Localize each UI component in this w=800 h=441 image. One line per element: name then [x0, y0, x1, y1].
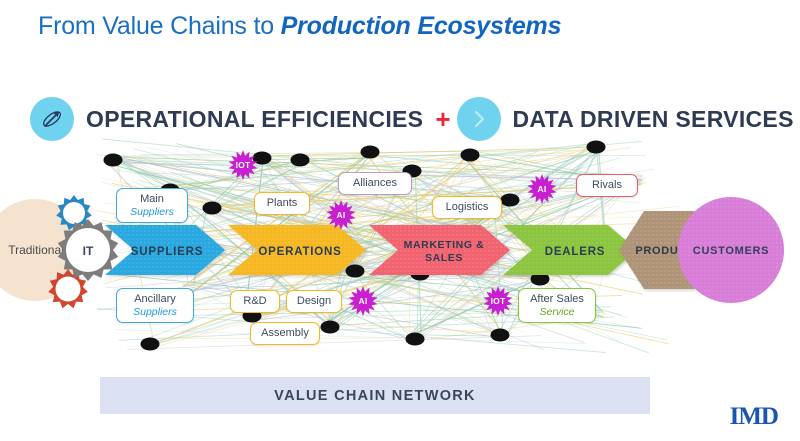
label-ancillary-sub: Suppliers	[126, 306, 184, 318]
tech-burst-label: IOT	[491, 296, 506, 306]
label-assembly-title: Assembly	[261, 327, 309, 339]
label-alliances-title: Alliances	[353, 177, 397, 189]
page-title-emphasis: Production Ecosystems	[281, 12, 562, 40]
tech-burst-label: AI	[337, 210, 346, 220]
label-plants[interactable]: Plants	[254, 192, 310, 215]
label-ancillary-title: Ancillary	[134, 293, 176, 305]
banner-label: VALUE CHAIN NETWORK	[274, 388, 476, 404]
subtitle-plus: +	[435, 104, 450, 135]
label-rivals[interactable]: Rivals	[576, 174, 638, 197]
page-title-lead: From Value Chains to	[38, 12, 281, 40]
label-ancillary-suppliers[interactable]: Ancillary Suppliers	[116, 288, 194, 323]
label-rd-title: R&D	[243, 295, 266, 307]
value-chain-network-banner: VALUE CHAIN NETWORK	[100, 377, 650, 414]
subtitle-row: OPERATIONAL EFFICIENCIES + DATA DRIVEN S…	[30, 95, 800, 143]
label-main-suppliers-sub: Suppliers	[126, 206, 178, 218]
imd-logo: IMD	[730, 403, 778, 431]
tech-burst-iot-0[interactable]: IOT	[228, 150, 258, 180]
rocket-arrow-icon	[30, 97, 74, 141]
label-logistics-title: Logistics	[446, 201, 489, 213]
label-design-title: Design	[297, 295, 331, 307]
tech-burst-iot-4[interactable]: IOT	[483, 286, 513, 316]
tech-burst-label: IOT	[236, 160, 251, 170]
label-alliances[interactable]: Alliances	[338, 172, 412, 195]
label-plants-title: Plants	[267, 197, 298, 209]
subtitle-left-text: OPERATIONAL EFFICIENCIES	[86, 106, 423, 133]
tech-burst-label: AI	[538, 184, 547, 194]
label-rd[interactable]: R&D	[230, 290, 280, 313]
label-logistics[interactable]: Logistics	[432, 196, 502, 219]
page-title: From Value Chains to Production Ecosyste…	[38, 12, 561, 41]
label-assembly[interactable]: Assembly	[250, 322, 320, 345]
value-chain-diagram: Traditional SUPPLIERS OPERATIONS MARKETI…	[0, 138, 800, 363]
label-design[interactable]: Design	[286, 290, 342, 313]
chevron-right-icon	[457, 97, 501, 141]
label-main-suppliers-title: Main	[140, 193, 164, 205]
label-after-sales-sub: Service	[528, 306, 586, 318]
subtitle-right-text: DATA DRIVEN SERVICES	[513, 106, 794, 133]
label-rivals-title: Rivals	[592, 179, 622, 191]
tech-burst-ai-3[interactable]: AI	[348, 286, 378, 316]
tech-burst-label: AI	[359, 296, 368, 306]
label-after-sales-title: After Sales	[530, 293, 584, 305]
tech-burst-ai-2[interactable]: AI	[527, 174, 557, 204]
tech-burst-ai-1[interactable]: AI	[326, 200, 356, 230]
label-after-sales[interactable]: After Sales Service	[518, 288, 596, 323]
label-main-suppliers[interactable]: Main Suppliers	[116, 188, 188, 223]
slide-canvas: From Value Chains to Production Ecosyste…	[0, 0, 800, 441]
